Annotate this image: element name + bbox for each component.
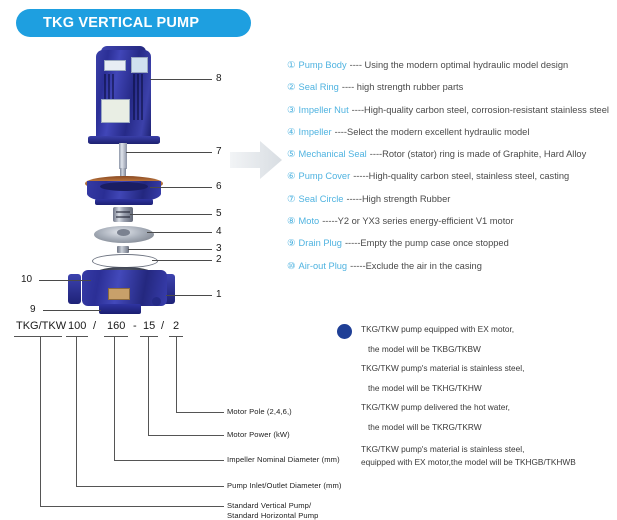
code-label-impeller-diameter: Impeller Nominal Diameter (mm) [227,455,340,464]
motor-junction-box [101,99,130,123]
leader-vline-power [148,336,149,435]
variant-note-line: TKG/TKW pump equipped with EX motor, [361,320,617,340]
legend-part-name: Pump Cover [299,170,351,182]
drain-plug [152,297,161,306]
parts-legend-list: ① Pump Body ---- Using the modern optima… [287,59,617,282]
leader-vline-series [40,336,41,506]
code-segment-impeller: 160 [107,320,125,332]
code-label-motor-power: Motor Power (kW) [227,430,290,439]
code-separator-slash-1: / [93,320,96,332]
code-segment-power: 15 [143,320,155,332]
code-segment-series: TKG/TKW [16,320,66,332]
leader-hline-series [40,506,224,507]
legend-description: -----Y2 or YX3 series energy-efficient V… [322,215,513,227]
legend-item: ② Seal Ring ---- high strength rubber pa… [287,81,617,94]
leader-vline-pole [176,336,177,412]
legend-description: ----High-quality carbon steel, corrosion… [352,104,609,116]
code-underline-impeller [104,336,128,337]
legend-description: -----Exclude the air in the casing [350,260,482,272]
legend-description: ----Select the modern excellent hydrauli… [335,126,530,138]
legend-number: ③ [287,105,296,117]
leader-line-1 [166,295,212,296]
leader-line-7 [126,152,212,153]
legend-part-name: Seal Circle [299,193,344,205]
motor-terminal-box [131,57,148,73]
code-separator-slash-2: / [161,320,164,332]
page-title-banner: TKG VERTICAL PUMP [16,9,251,37]
leader-line-5 [130,214,212,215]
legend-part-name: Seal Ring [299,81,339,93]
leader-line-8 [150,79,212,80]
leader-line-6 [150,187,212,188]
exploded-pump-diagram: 8 7 6 5 4 3 2 1 10 9 [0,42,265,302]
motor-nameplate [104,60,126,71]
pump-shaft [119,143,127,169]
code-separator-dash: - [133,320,137,332]
legend-number: ⑨ [287,238,296,250]
code-label-inlet-diameter: Pump Inlet/Outlet Diameter (mm) [227,481,342,490]
code-segment-pole: 2 [173,320,179,332]
variant-note-line: equipped with EX motor,the model will be… [361,456,617,469]
variant-note-line: TKG/TKW pump's material is stainless ste… [361,443,617,456]
variant-note-list: TKG/TKW pump equipped with EX motor, the… [361,320,617,469]
legend-number: ⑤ [287,149,296,161]
pump-cover-bore [100,182,148,191]
legend-part-name: Air-out Plug [299,260,348,272]
legend-description: ----Rotor (stator) ring is made of Graph… [370,148,586,160]
pump-cover-foot [95,199,153,205]
leader-hline-power [148,435,224,436]
callout-number-10: 10 [21,274,32,285]
motor-cooling-fin [137,74,139,120]
leader-line-2 [152,260,212,261]
leader-hline-pole [176,412,224,413]
legend-item: ⑤ Mechanical Seal ----Rotor (stator) rin… [287,148,617,161]
leader-line-3 [128,249,212,250]
legend-part-name: Drain Plug [299,237,342,249]
code-underline-series [14,336,62,337]
legend-number: ④ [287,127,296,139]
legend-description: -----High strength Rubber [346,193,450,205]
legend-number: ② [287,82,296,94]
legend-number: ① [287,60,296,72]
code-underline-inlet [66,336,88,337]
callout-number-6: 6 [216,181,222,192]
variant-note-line: the model will be TKHG/TKHW [361,379,617,399]
leader-line-4 [147,232,212,233]
legend-number: ⑧ [287,216,296,228]
bullet-dot-icon [337,324,352,339]
leader-hline-impeller [114,460,224,461]
variant-note-line: the model will be TKRG/TKRW [361,418,617,438]
impeller-hub [117,229,130,236]
legend-item: ① Pump Body ---- Using the modern optima… [287,59,617,72]
legend-item: ⑩ Air-out Plug -----Exclude the air in t… [287,260,617,273]
legend-item: ⑥ Pump Cover -----High-quality carbon st… [287,170,617,183]
legend-number: ⑩ [287,261,296,273]
callout-number-7: 7 [216,146,222,157]
legend-item: ③ Impeller Nut ----High-quality carbon s… [287,104,617,117]
callout-number-3: 3 [216,243,222,254]
pump-body-nameplate [108,288,130,300]
legend-item: ④ Impeller ----Select the modern excelle… [287,126,617,139]
variant-note-line: TKG/TKW pump delivered the hot water, [361,398,617,418]
seal-ring [92,254,158,268]
callout-number-8: 8 [216,73,222,84]
code-segment-inlet: 100 [68,320,86,332]
right-arrow-icon [228,138,284,182]
model-variant-notes: TKG/TKW pump equipped with EX motor, the… [337,320,617,469]
callout-number-5: 5 [216,208,222,219]
inlet-flange [68,274,81,304]
callout-number-2: 2 [216,254,222,265]
code-label-standard-vertical: Standard Vertical Pump/ [227,501,311,510]
legend-description: -----Empty the pump case once stopped [345,237,509,249]
legend-part-name: Impeller [299,126,332,138]
leader-vline-inlet [76,336,77,486]
legend-number: ⑥ [287,171,296,183]
variant-note-line: the model will be TKBG/TKBW [361,340,617,360]
code-underline-power [140,336,158,337]
leader-hline-inlet [76,486,224,487]
legend-description: ---- high strength rubber parts [342,81,463,93]
code-label-motor-pole: Motor Pole (2,4,6,) [227,407,292,416]
legend-description: -----High-quality carbon steel, stainles… [353,170,569,182]
legend-part-name: Impeller Nut [299,104,349,116]
legend-item: ⑨ Drain Plug -----Empty the pump case on… [287,237,617,250]
legend-part-name: Pump Body [299,59,347,71]
variant-note-line: TKG/TKW pump's material is stainless ste… [361,359,617,379]
motor-cooling-fin [133,74,135,120]
code-label-standard-horizontal: Standard Horizontal Pump [227,511,318,520]
legend-part-name: Mechanical Seal [299,148,367,160]
callout-number-1: 1 [216,289,222,300]
legend-item: ⑧ Moto -----Y2 or YX3 series energy-effi… [287,215,617,228]
leader-vline-impeller [114,336,115,460]
leader-line-10 [39,280,91,281]
legend-item: ⑦ Seal Circle -----High strength Rubber [287,193,617,206]
motor-cooling-fin [141,74,143,120]
model-designation-diagram: TKG/TKW 100 / 160 - 15 / 2 Motor Pole (2… [0,310,320,500]
legend-part-name: Moto [299,215,320,227]
legend-description: ---- Using the modern optimal hydraulic … [350,59,569,71]
legend-number: ⑦ [287,194,296,206]
callout-number-4: 4 [216,226,222,237]
page-title: TKG VERTICAL PUMP [16,15,199,31]
